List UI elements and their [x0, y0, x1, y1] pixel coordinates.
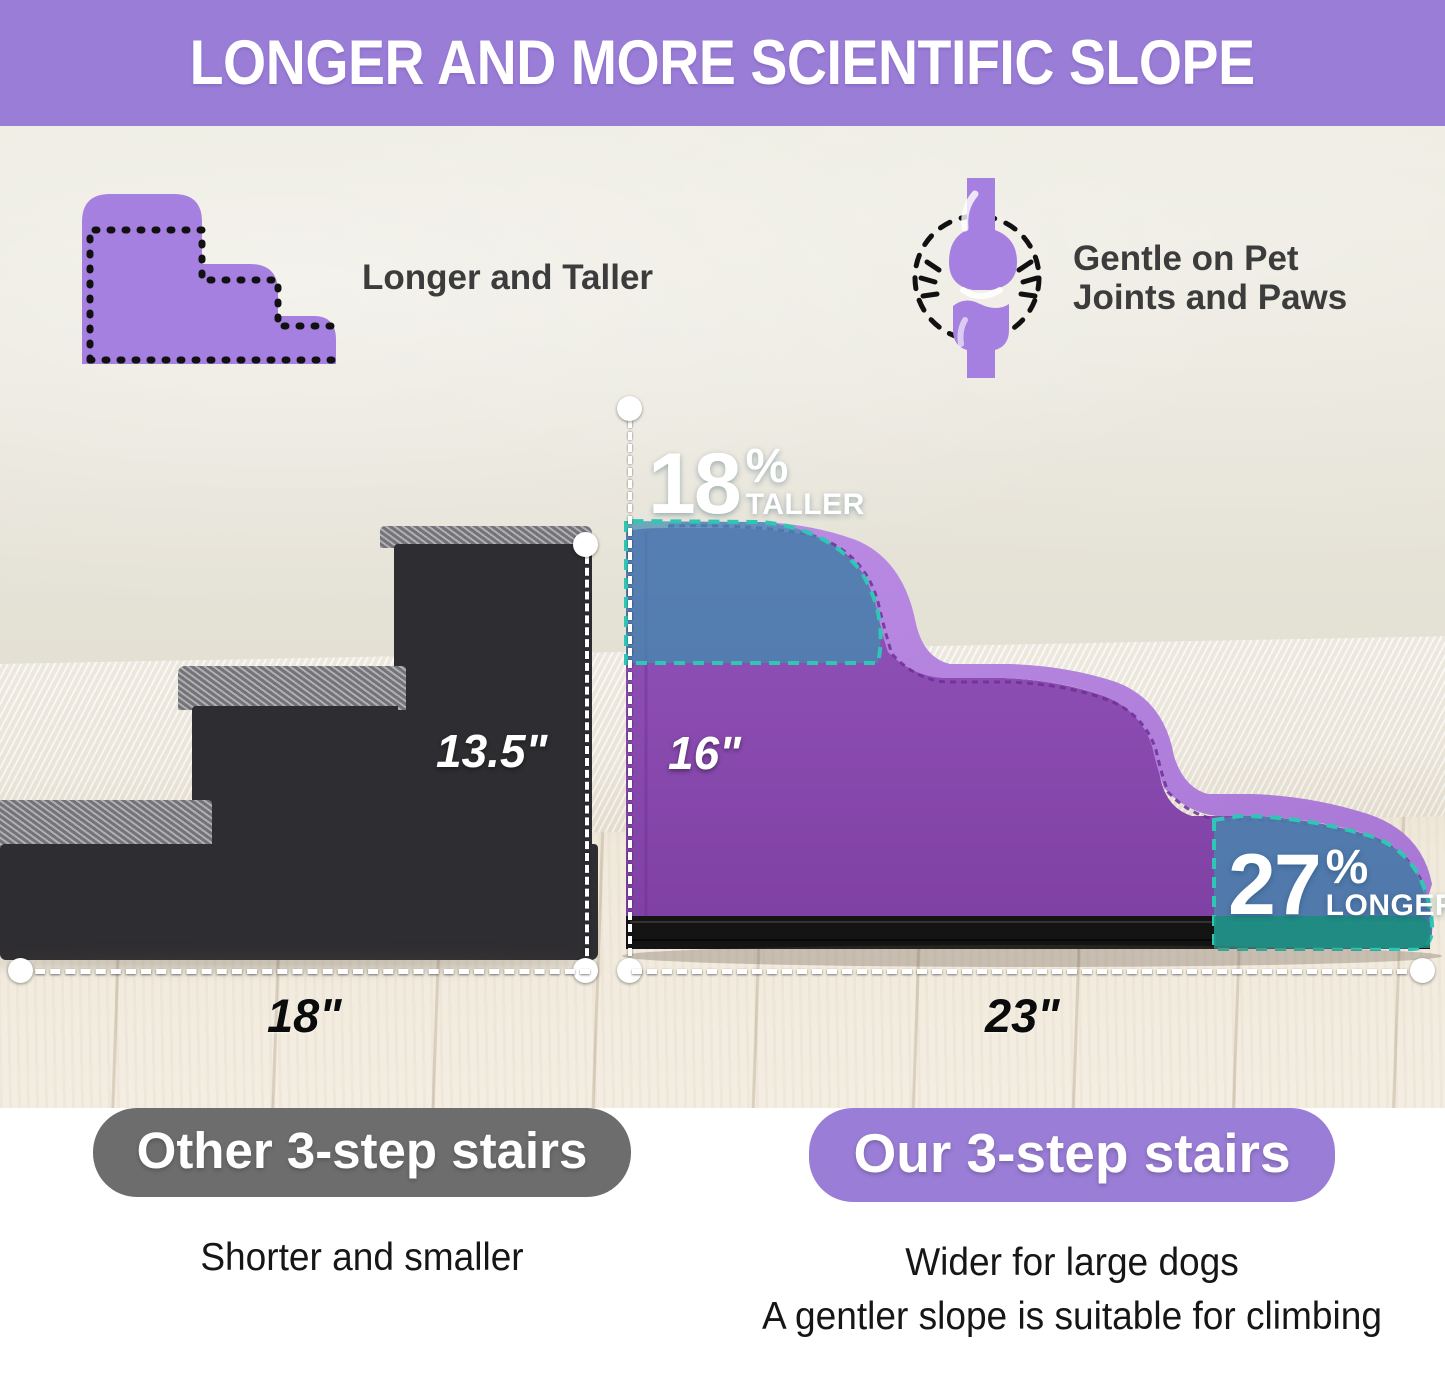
- dim-dot-competitor-top: [573, 532, 598, 557]
- product-comparison-photo: Longer and Taller: [0, 126, 1445, 1108]
- page-title: LONGER AND MORE SCIENTIFIC SLOPE: [190, 27, 1255, 99]
- competitor-width-label: 18": [267, 988, 342, 1043]
- competitor-height-label: 13.5": [436, 724, 547, 778]
- competitor-width-dimension-line: [20, 969, 590, 974]
- feature-label-longer-taller: Longer and Taller: [362, 258, 653, 297]
- feature-gentle-on-joints: Gentle on Pet Joints and Paws: [905, 178, 1347, 378]
- comparison-column-ours: Our 3-step stairs Wider for large dogs A…: [712, 1108, 1432, 1344]
- our-width-dimension-line: [632, 969, 1422, 974]
- feature-longer-and-taller: Longer and Taller: [78, 188, 653, 368]
- comparison-summary-row: Other 3-step stairs Shorter and smaller …: [0, 1108, 1445, 1399]
- dim-dot-our-top: [617, 396, 642, 421]
- pill-other-stairs: Other 3-step stairs: [93, 1108, 632, 1197]
- competitor-height-dimension-line: [585, 544, 589, 968]
- feature-label-gentle-joints: Gentle on Pet Joints and Paws: [1073, 239, 1347, 317]
- our-description: Wider for large dogs A gentler slope is …: [730, 1236, 1414, 1344]
- comparison-column-competitor: Other 3-step stairs Shorter and smaller: [22, 1108, 702, 1285]
- dim-dot-competitor-bottom-left: [8, 958, 33, 983]
- dim-dot-our-bottom-right: [1410, 958, 1435, 983]
- header-banner: LONGER AND MORE SCIENTIFIC SLOPE: [0, 0, 1445, 126]
- pet-joint-bone-icon: [905, 178, 1055, 378]
- our-height-label: 16": [668, 726, 741, 780]
- our-height-dimension-line: [628, 408, 632, 968]
- stairs-silhouette-icon: [78, 188, 340, 368]
- our-stairs-product: [612, 384, 1445, 979]
- our-width-label: 23": [985, 988, 1060, 1043]
- competitor-description: Shorter and smaller: [39, 1231, 685, 1285]
- pill-our-stairs: Our 3-step stairs: [809, 1108, 1334, 1202]
